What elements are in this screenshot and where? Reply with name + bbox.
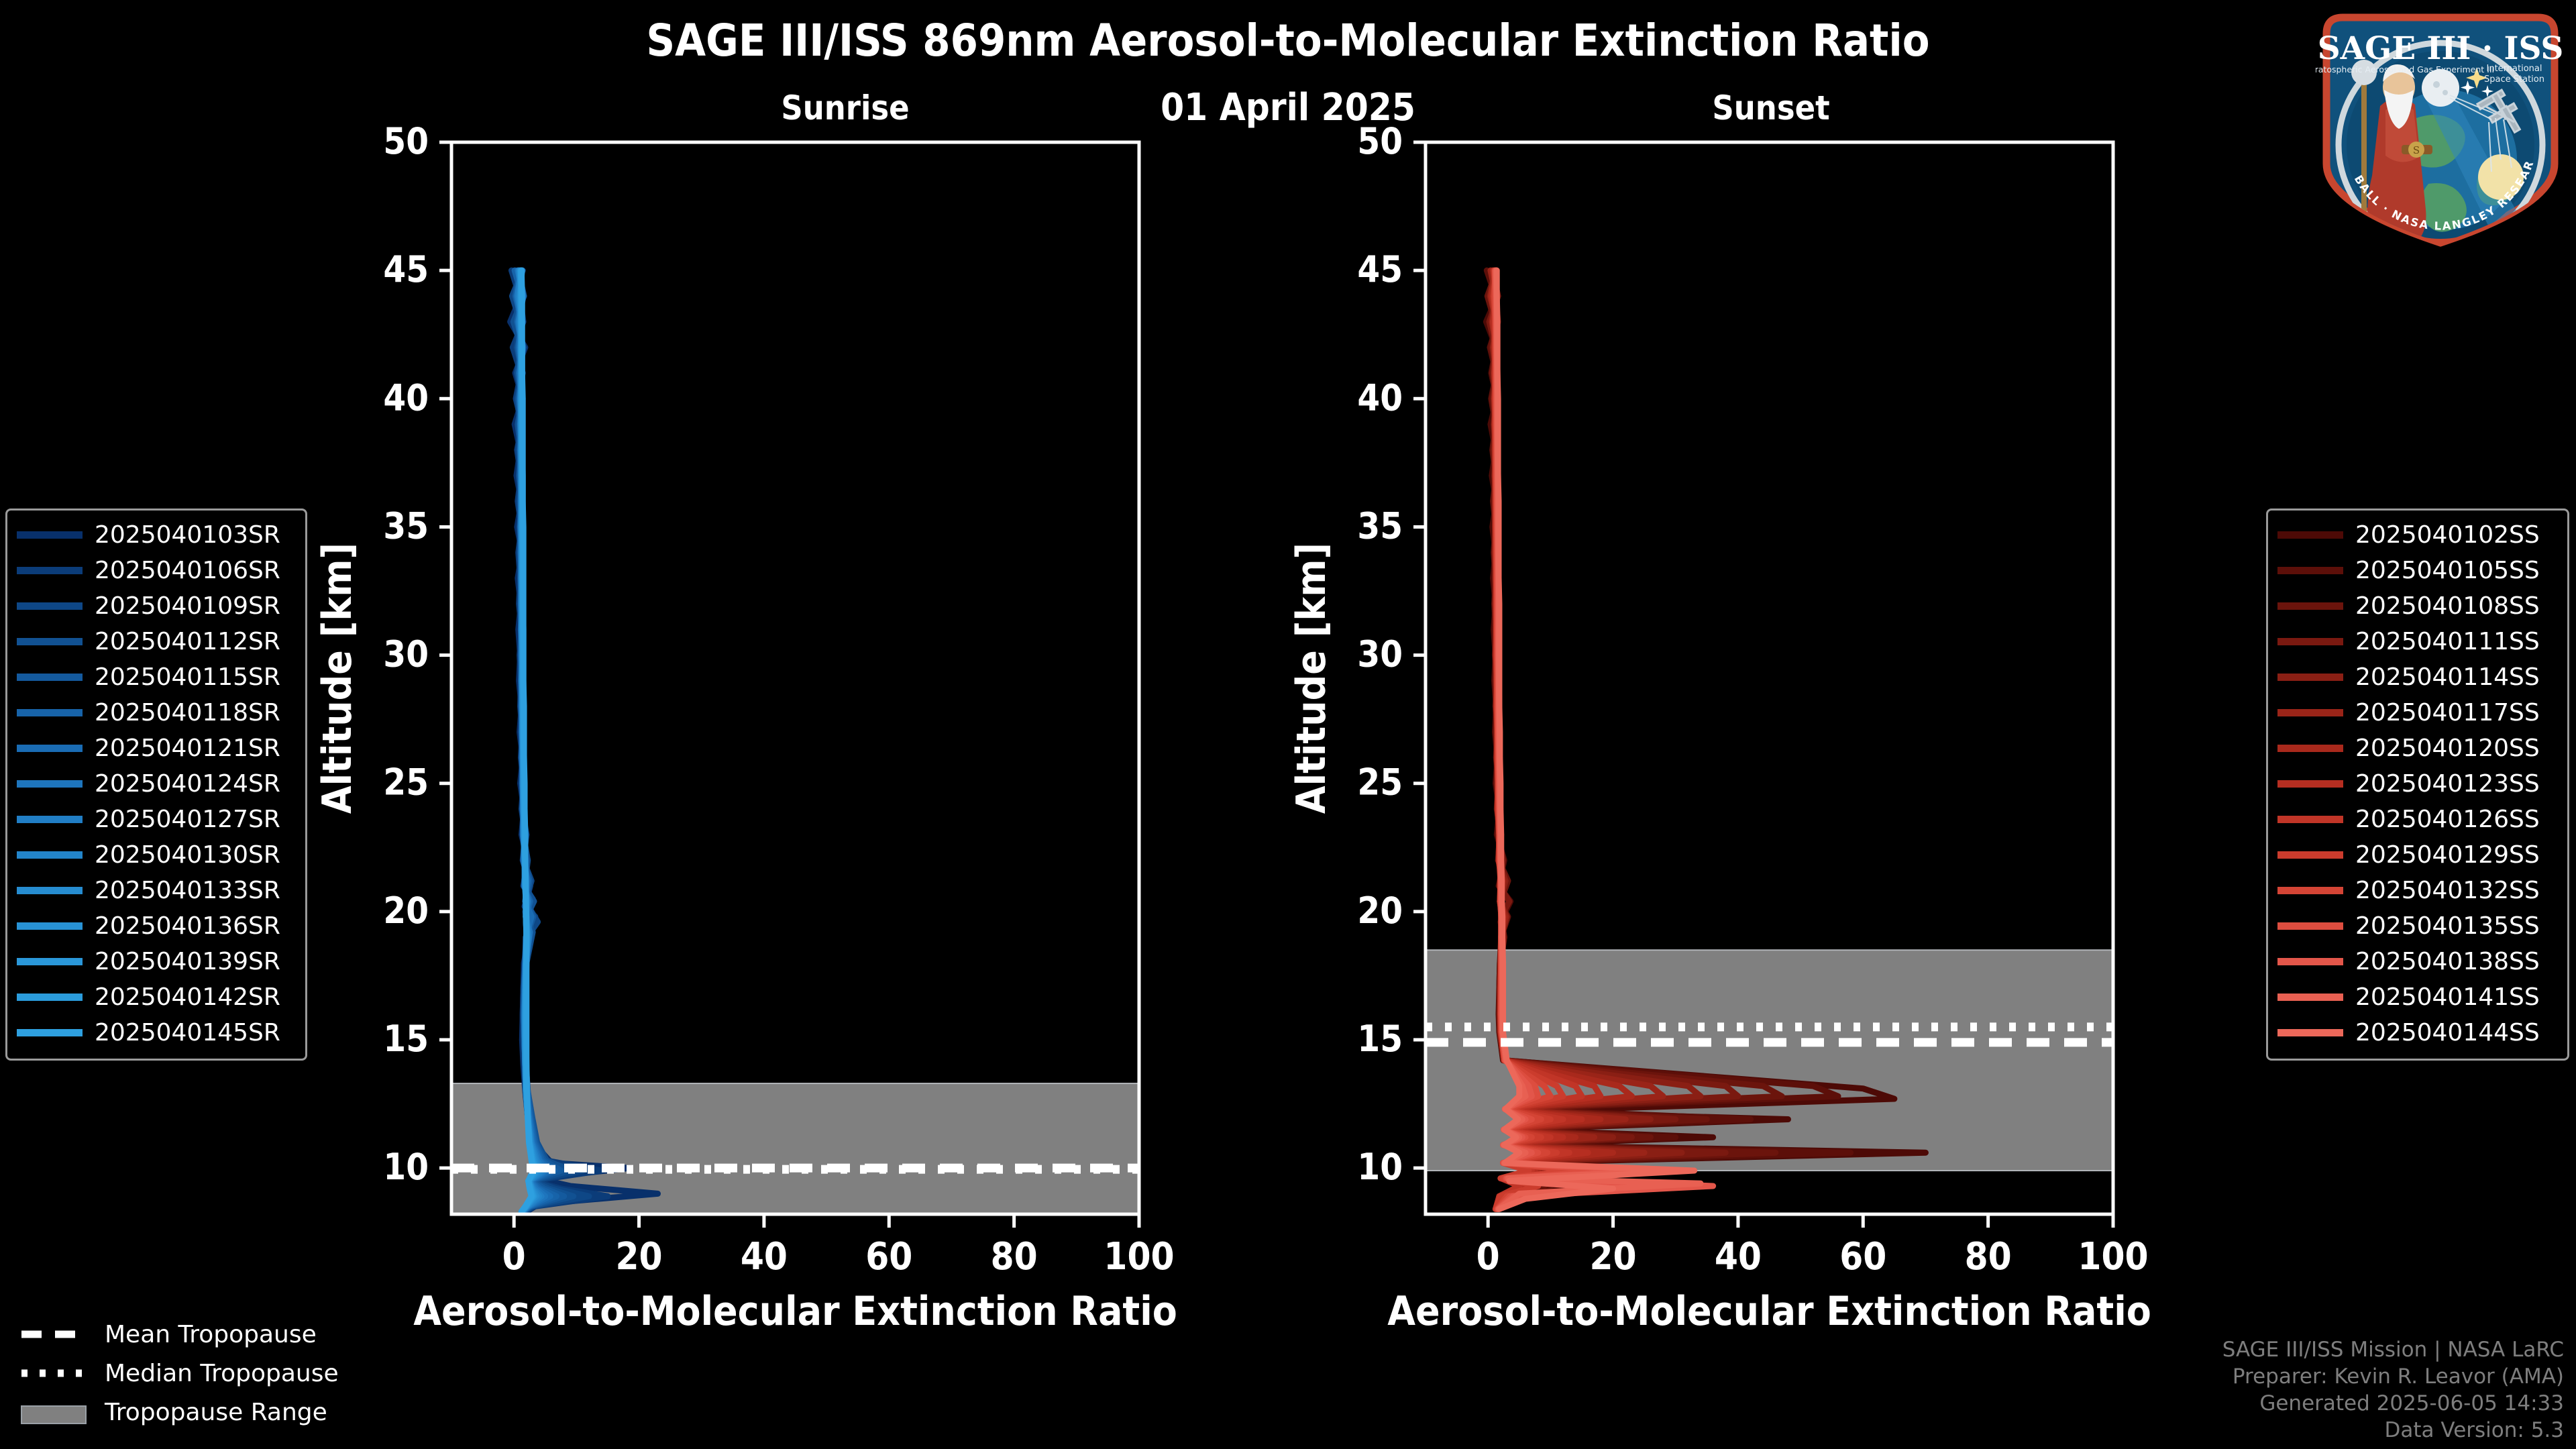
x-axis-label: Aerosol-to-Molecular Extinction Ratio xyxy=(1387,1288,2151,1335)
tropopause-range-label: Tropopause Range xyxy=(105,1399,327,1426)
x-tick-label: 40 xyxy=(1715,1235,1762,1279)
svg-text:International: International xyxy=(2487,64,2542,74)
sunset-plot: 101520253035404550020406080100Aerosol-to… xyxy=(1275,101,2576,1364)
legend-row-tropopause-range: Tropopause Range xyxy=(20,1393,339,1432)
mean-tropopause-swatch xyxy=(20,1327,87,1342)
x-tick-label: 60 xyxy=(865,1235,912,1279)
legend-row-mean-tropopause: Mean Tropopause xyxy=(20,1315,339,1354)
y-tick-label: 10 xyxy=(1357,1146,1403,1188)
logo-subtitle-left: Stratospheric Aerosol and Gas Experiment… xyxy=(2316,64,2494,74)
footer-line-generated: Generated 2025-06-05 14:33 xyxy=(2222,1390,2564,1417)
x-tick-label: 100 xyxy=(1104,1235,1174,1279)
y-tick-label: 30 xyxy=(1357,633,1403,676)
sunrise-plot: 101520253035404550020406080100Aerosol-to… xyxy=(0,101,1301,1364)
y-tick-label: 40 xyxy=(383,376,429,419)
y-tick-label: 35 xyxy=(1357,504,1403,547)
y-tick-label: 45 xyxy=(383,248,429,290)
footer-line-preparer: Preparer: Kevin R. Leavor (AMA) xyxy=(2222,1363,2564,1390)
y-tick-label: 25 xyxy=(1357,761,1403,804)
y-tick-label: 30 xyxy=(383,633,429,676)
y-tick-label: 50 xyxy=(1357,120,1403,162)
footer-line-mission: SAGE III/ISS Mission | NASA LaRC xyxy=(2222,1336,2564,1363)
tropopause-range-swatch xyxy=(20,1405,87,1419)
mean-tropopause-label: Mean Tropopause xyxy=(105,1321,317,1348)
footer-credits: SAGE III/ISS Mission | NASA LaRC Prepare… xyxy=(2222,1336,2564,1444)
x-tick-label: 40 xyxy=(741,1235,788,1279)
y-tick-label: 15 xyxy=(383,1018,429,1060)
x-tick-label: 80 xyxy=(991,1235,1038,1279)
y-tick-label: 25 xyxy=(383,761,429,804)
x-tick-label: 0 xyxy=(1477,1235,1500,1279)
y-axis-label: Altitude [km] xyxy=(314,543,361,814)
median-tropopause-label: Median Tropopause xyxy=(105,1360,339,1387)
logo-title: SAGE III · ISS xyxy=(2318,30,2564,67)
x-tick-label: 20 xyxy=(1589,1235,1636,1279)
y-tick-label: 20 xyxy=(1357,890,1403,932)
x-tick-label: 80 xyxy=(1965,1235,2012,1279)
y-tick-label: 45 xyxy=(1357,248,1403,290)
y-tick-label: 35 xyxy=(383,504,429,547)
y-tick-label: 50 xyxy=(383,120,429,162)
tropopause-legend: Mean Tropopause Median Tropopause Tropop… xyxy=(20,1315,339,1432)
median-tropopause-swatch xyxy=(20,1366,87,1381)
y-tick-label: 20 xyxy=(383,890,429,932)
y-tick-label: 40 xyxy=(1357,376,1403,419)
x-tick-label: 100 xyxy=(2078,1235,2148,1279)
page-title: SAGE III/ISS 869nm Aerosol-to-Molecular … xyxy=(0,15,2576,66)
y-axis-label: Altitude [km] xyxy=(1288,543,1335,814)
x-axis-label: Aerosol-to-Molecular Extinction Ratio xyxy=(413,1288,1177,1335)
y-tick-label: 15 xyxy=(1357,1018,1403,1060)
x-tick-label: 0 xyxy=(502,1235,526,1279)
footer-line-version: Data Version: 5.3 xyxy=(2222,1417,2564,1444)
svg-text:Space Station: Space Station xyxy=(2484,74,2544,85)
legend-row-median-tropopause: Median Tropopause xyxy=(20,1354,339,1393)
plot-background xyxy=(451,142,1139,1214)
x-tick-label: 20 xyxy=(615,1235,662,1279)
x-tick-label: 60 xyxy=(1839,1235,1886,1279)
y-tick-label: 10 xyxy=(383,1146,429,1188)
